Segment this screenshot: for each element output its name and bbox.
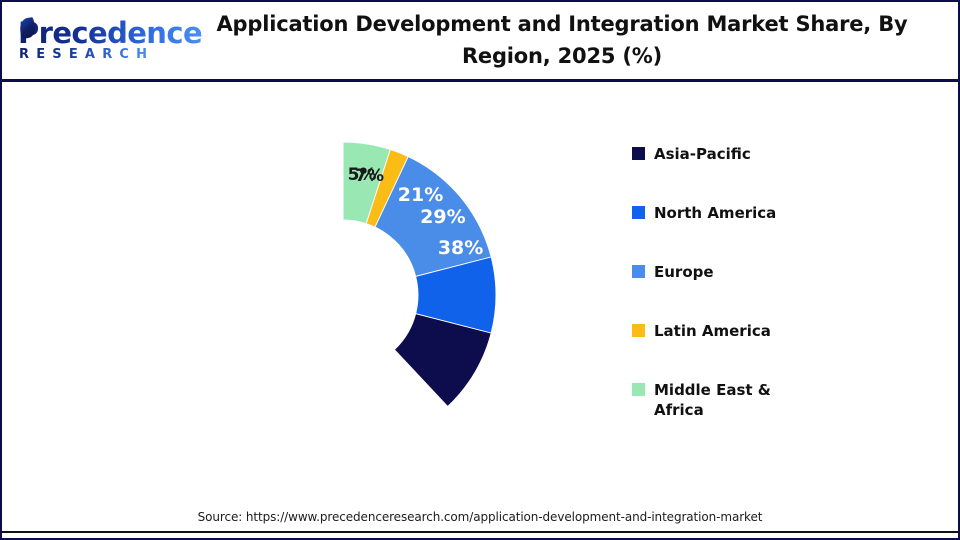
legend-label: Middle East & Africa	[654, 380, 789, 420]
legend-swatch-icon	[632, 383, 645, 396]
donut-chart: 38%29%21%7%5%	[188, 140, 498, 450]
logo-wordmark: Precedence	[18, 16, 202, 50]
legend-item[interactable]: Middle East & Africa	[632, 380, 932, 439]
page-title: Application Development and Integration …	[197, 8, 927, 72]
legend-item[interactable]: Latin America	[632, 321, 932, 380]
legend-label: North America	[654, 203, 776, 223]
legend-item[interactable]: Asia-Pacific	[632, 144, 932, 203]
donut-slice-label: 38%	[438, 237, 483, 259]
logo-subword: RESEARCH	[19, 47, 154, 62]
chart-legend: Asia-PacificNorth AmericaEuropeLatin Ame…	[632, 144, 932, 439]
donut-chart-svg	[188, 140, 498, 450]
footer-divider	[2, 531, 958, 533]
legend-item[interactable]: Europe	[632, 262, 932, 321]
donut-slice-label: 29%	[420, 206, 465, 228]
page-footer: Source: https://www.precedenceresearch.c…	[2, 497, 958, 538]
legend-label: Latin America	[654, 321, 771, 341]
precedence-research-logo: Precedence RESEARCH	[12, 14, 172, 70]
chart-page: Precedence RESEARCH Application Developm…	[0, 0, 960, 540]
donut-slice-label: 21%	[398, 184, 443, 206]
page-header: Precedence RESEARCH Application Developm…	[2, 2, 958, 82]
legend-swatch-icon	[632, 324, 645, 337]
legend-swatch-icon	[632, 147, 645, 160]
legend-item[interactable]: North America	[632, 203, 932, 262]
legend-label: Asia-Pacific	[654, 144, 751, 164]
source-text: Source: https://www.precedenceresearch.c…	[2, 510, 958, 524]
legend-label: Europe	[654, 262, 714, 282]
chart-body: 38%29%21%7%5% Asia-PacificNorth AmericaE…	[2, 82, 958, 497]
donut-slice-label: 5%	[348, 165, 377, 185]
legend-swatch-icon	[632, 206, 645, 219]
legend-swatch-icon	[632, 265, 645, 278]
